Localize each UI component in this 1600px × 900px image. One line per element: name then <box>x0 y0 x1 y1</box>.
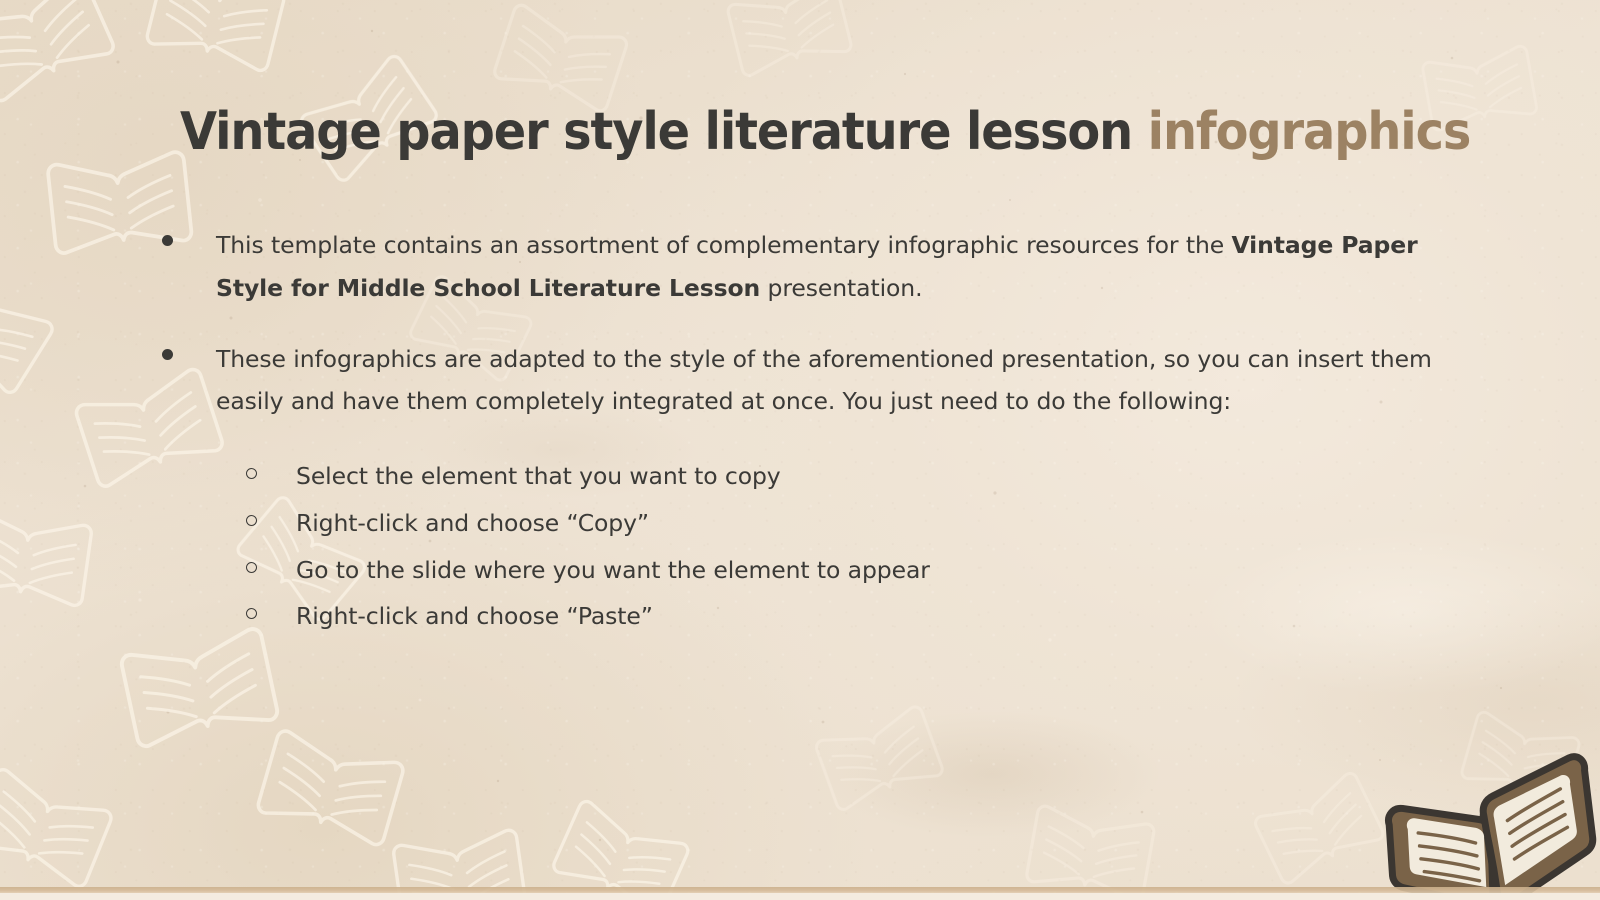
page-title-main: Vintage paper style literature lesson <box>180 102 1148 162</box>
body-text-block: This template contains an assortment of … <box>150 224 1440 642</box>
bullet-text-2: These infographics are adapted to the st… <box>216 338 1440 424</box>
sub-list-item-label: Right-click and choose “Paste” <box>296 595 1440 638</box>
slide-canvas: Vintage paper style literature lesson in… <box>0 0 1600 900</box>
hollow-circle-icon <box>234 455 296 479</box>
slide-content: Vintage paper style literature lesson in… <box>0 0 1600 900</box>
bullet-dot-icon <box>150 224 216 246</box>
sub-list-item-label: Right-click and choose “Copy” <box>296 502 1440 545</box>
sub-list-item-label: Go to the slide where you want the eleme… <box>296 549 1440 592</box>
hollow-circle-icon <box>234 549 296 573</box>
hollow-circle-icon <box>234 502 296 526</box>
sub-list-item: Go to the slide where you want the eleme… <box>234 549 1440 592</box>
bullet-text-1: This template contains an assortment of … <box>216 224 1440 310</box>
bottom-margin-band <box>0 893 1600 900</box>
sub-list-item: Right-click and choose “Paste” <box>234 595 1440 638</box>
sub-list-item-label: Select the element that you want to copy <box>296 455 1440 498</box>
page-title-accent: infographics <box>1148 102 1471 162</box>
list-item: This template contains an assortment of … <box>150 224 1440 310</box>
page-title: Vintage paper style literature lesson in… <box>180 104 1470 160</box>
sub-list-item: Select the element that you want to copy <box>234 455 1440 498</box>
hollow-circle-icon <box>234 595 296 619</box>
sub-list-item: Right-click and choose “Copy” <box>234 502 1440 545</box>
list-item: These infographics are adapted to the st… <box>150 338 1440 424</box>
bullet-1-segment-0: This template contains an assortment of … <box>216 231 1232 259</box>
bullet-dot-icon <box>150 338 216 360</box>
sub-list: Select the element that you want to copy… <box>234 455 1440 638</box>
bullet-1-segment-2: presentation. <box>760 274 922 302</box>
